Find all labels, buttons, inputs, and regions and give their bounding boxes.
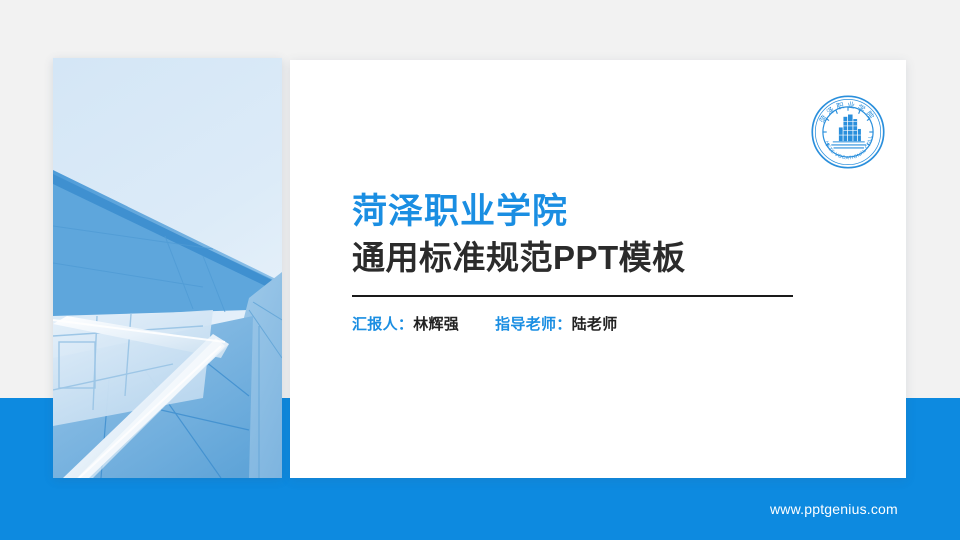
meta-row: 汇报人：林辉强 指导老师：陆老师 [352, 313, 812, 334]
cover-photo [53, 58, 282, 478]
college-logo: 菏泽职业学院 HEZE VOCATIONAL COLLEGE [810, 94, 886, 170]
advisor-meta: 指导老师：陆老师 [495, 313, 617, 334]
presenter-label: 汇报人： [352, 316, 413, 333]
title-block: 菏泽职业学院 通用标准规范PPT模板 汇报人：林辉强 指导老师：陆老师 [352, 192, 812, 334]
presenter-value: 林辉强 [413, 316, 459, 333]
page-title: 菏泽职业学院 [352, 192, 812, 231]
advisor-label: 指导老师： [495, 316, 572, 333]
title-divider [352, 295, 793, 297]
site-watermark: www.pptgenius.com [770, 501, 898, 517]
college-seal-icon: 菏泽职业学院 HEZE VOCATIONAL COLLEGE [810, 94, 886, 170]
presenter-meta: 汇报人：林辉强 [352, 313, 459, 334]
photo-artwork [53, 58, 282, 478]
advisor-value: 陆老师 [572, 316, 618, 333]
page-subtitle: 通用标准规范PPT模板 [352, 240, 812, 277]
presentation-slide: 菏泽职业学院 HEZE VOCATIONAL COLLEGE 菏泽职业学院 通用… [0, 0, 960, 540]
